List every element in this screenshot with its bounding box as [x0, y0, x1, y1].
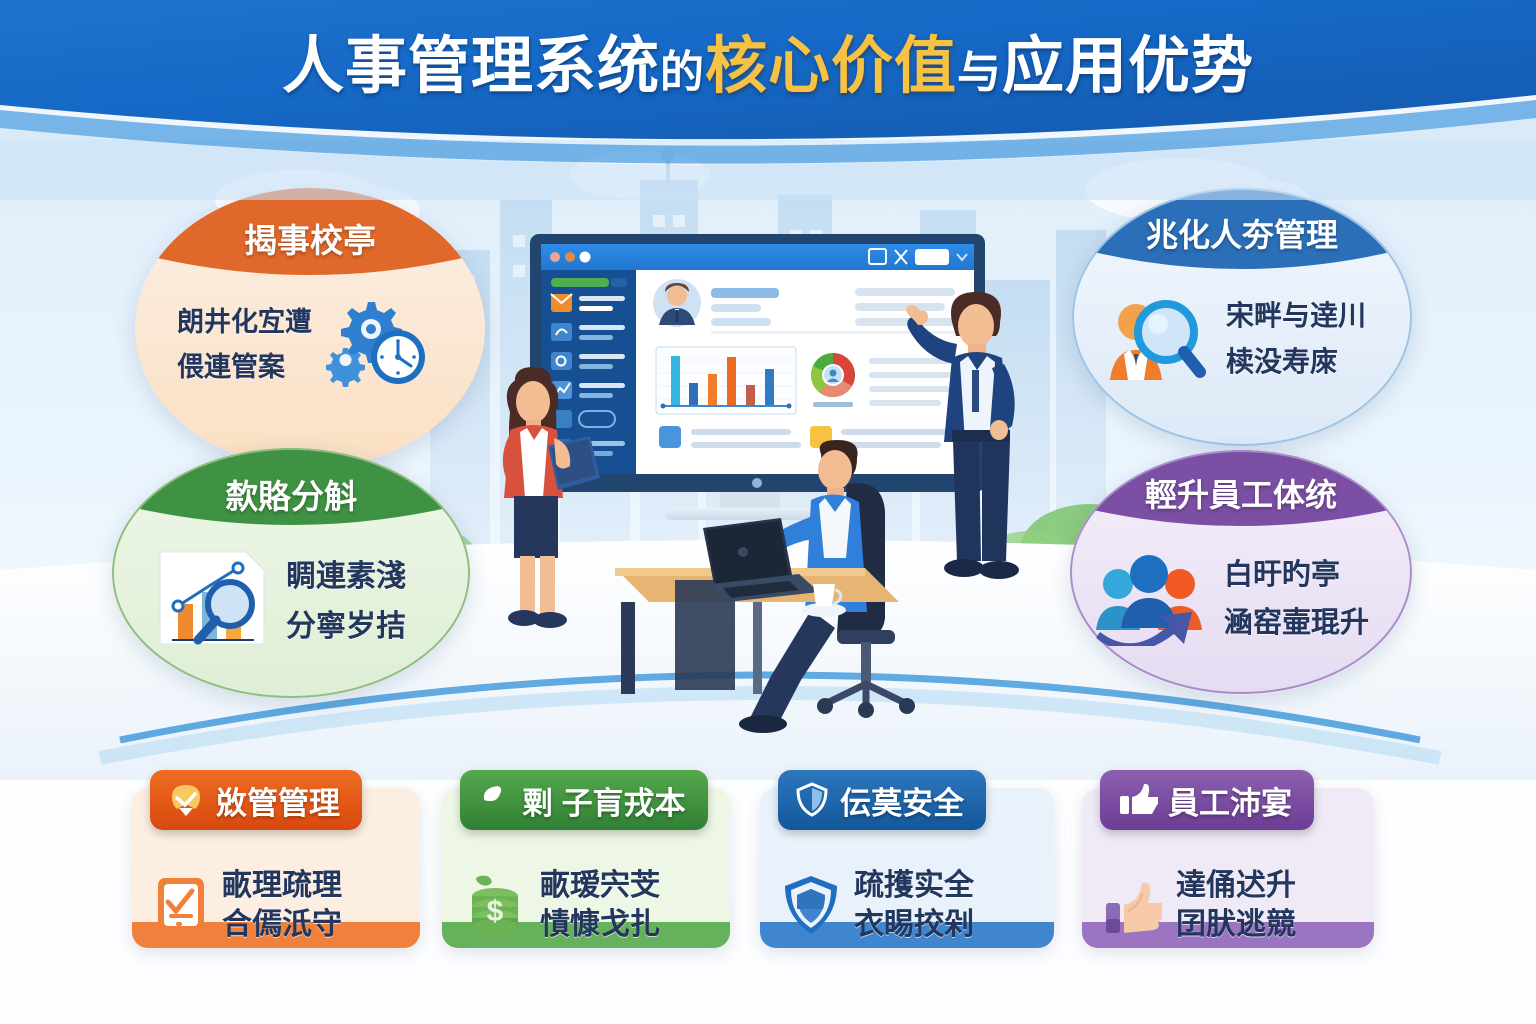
- satisfaction-body: 達俑迖升 囝肰逃競: [1104, 866, 1296, 944]
- man-at-laptop: [615, 440, 955, 740]
- window-search-box: [915, 249, 949, 265]
- donut-chart: [811, 353, 855, 397]
- profile-line-3: [711, 318, 771, 326]
- shoe-right: [979, 561, 1019, 579]
- arm-pointing: [907, 316, 957, 364]
- bar-6: [765, 369, 774, 406]
- security-line2: 衣睗挍剁: [854, 905, 974, 944]
- shield-lock-icon: [782, 873, 840, 937]
- page-title: 人事管理系统的核心价值与应用优势: [0, 34, 1536, 99]
- shield-icon: [794, 780, 830, 820]
- trouser-left: [953, 441, 981, 561]
- compliance-body: 畞理疏理 合傿汦守: [154, 866, 342, 944]
- magnifier-handle: [1184, 352, 1200, 372]
- coffee-cup: [813, 584, 835, 606]
- bar-5: [746, 385, 755, 406]
- employee-avatar: [653, 279, 701, 327]
- security-pill[interactable]: 伝茣安全: [778, 770, 986, 830]
- infographic-canvas: 揭事校亭 朗井化宐遭 偎連管案: [0, 0, 1536, 1024]
- shield-check-badge-icon: [166, 780, 206, 820]
- gear-small: [326, 348, 365, 387]
- title-part-5: 应用优势: [1002, 32, 1254, 101]
- bottom-card-security[interactable]: 伝茣安全 疏擭实全 衣睗挍剁: [760, 788, 1054, 948]
- oval-talent-title: 兆化人夯管理: [1072, 210, 1412, 256]
- security-pill-title: 伝茣安全: [840, 778, 964, 823]
- person-right-head: [1165, 569, 1195, 599]
- oval-analytics-line1: 睭連素淺: [286, 551, 406, 595]
- chart-magnifier-icon: [154, 544, 272, 652]
- bottom-card-compliance[interactable]: 敚管管理 畞理疏理 合傿汦守: [132, 788, 420, 948]
- window-dot-amber: [565, 252, 575, 262]
- desk-leg-left: [621, 602, 635, 694]
- bar-4: [727, 357, 736, 406]
- oval-talent-line1: 宋畔与逹川: [1226, 294, 1366, 334]
- leg-left: [520, 556, 535, 614]
- bar-1: [671, 356, 680, 406]
- compliance-pill[interactable]: 敚管管理: [150, 770, 362, 830]
- shoe-right: [533, 612, 567, 628]
- desk-leg-mid: [753, 602, 762, 694]
- thumbs-up-small-icon: [1116, 780, 1158, 820]
- oval-talent-body: 宋畔与逹川 椟没寿庲: [1100, 288, 1366, 386]
- title-part-1: 人事管理系统: [282, 32, 660, 101]
- person-center-head: [1130, 555, 1168, 593]
- oval-efficiency-title: 揭事校亭: [135, 214, 485, 262]
- leaf: [476, 876, 492, 886]
- cost-pill-title: 㔄 子肓戎本: [522, 778, 686, 823]
- compliance-line2: 合傿汦守: [222, 905, 342, 944]
- satisfaction-line2: 囝肰逃競: [1176, 905, 1296, 944]
- chair-seat: [837, 630, 895, 644]
- people-arrow-icon: [1090, 546, 1210, 646]
- oval-analytics-body: 睭連素淺 分寧岁拮: [154, 544, 406, 652]
- svg-text:$: $: [487, 895, 504, 928]
- person-left-head: [1103, 569, 1133, 599]
- bar-3: [708, 374, 717, 406]
- oval-experience-line2: 㴠窑壷琨升: [1224, 599, 1369, 641]
- navy-skirt: [514, 496, 558, 558]
- oval-experience-title: 輕升員工体统: [1070, 470, 1412, 516]
- sidebar-status-bar: [551, 278, 609, 287]
- cost-line2: 㥽慷戈扎: [540, 905, 660, 944]
- donut-legend: [813, 402, 853, 407]
- header-banner: 人事管理系统的核心价值与应用优势: [0, 0, 1536, 200]
- shoe: [739, 715, 787, 733]
- compliance-pill-title: 敚管管理: [216, 778, 340, 823]
- oval-efficiency-line2: 偎連管案: [177, 345, 312, 384]
- cost-pill[interactable]: 㔄 子肓戎本: [460, 770, 708, 830]
- oval-analytics-title: 歀賂分斛: [112, 470, 470, 518]
- bottom-card-satisfaction[interactable]: 員工沛宴 達俑迖升 囝肰逃競: [1082, 788, 1374, 948]
- oval-experience-line1: 白旴旳亭: [1224, 551, 1369, 593]
- bottom-card-cost[interactable]: 㔄 子肓戎本 $ 畞瑷宍芠 㥽慷戈扎: [442, 788, 730, 948]
- person-magnifier-icon: [1100, 288, 1212, 386]
- bar-2: [689, 383, 698, 406]
- necktie: [972, 370, 979, 412]
- oval-card-analytics[interactable]: 歀賂分斛 睭連素淺 分寧岁拮: [112, 448, 470, 698]
- satisfaction-pill-title: 員工沛宴: [1168, 778, 1292, 823]
- profile-line-1: [711, 288, 779, 298]
- person-center-body: [1121, 598, 1177, 628]
- title-part-4: 与: [957, 48, 1002, 97]
- oval-talent-line2: 椟没寿庲: [1226, 340, 1366, 380]
- window-dot-red: [550, 252, 560, 262]
- title-part-3: 核心价值: [705, 32, 957, 101]
- oval-efficiency-body: 朗井化宐遭 偎連管案: [177, 296, 426, 388]
- chair-column: [861, 642, 871, 682]
- oval-experience-body: 白旴旳亭 㴠窑壷琨升: [1090, 546, 1369, 646]
- title-part-2: 的: [660, 48, 705, 97]
- security-line1: 疏擭实全: [854, 866, 974, 905]
- leaf-coin-icon: [476, 780, 512, 820]
- hand-right: [990, 420, 1008, 440]
- window-titlebar: [541, 244, 974, 270]
- oval-card-experience[interactable]: 輕升員工体统 白旴旳亭 㴠窑壷琨升: [1070, 450, 1412, 695]
- window-dot-white: [580, 252, 591, 263]
- gears-clock-icon: [326, 296, 426, 388]
- compliance-line1: 畞理疏理: [222, 866, 342, 905]
- oval-analytics-line2: 分寧岁拮: [286, 601, 406, 645]
- trouser-right: [982, 441, 1010, 561]
- cost-body: $ 畞瑷宍芠 㥽慷戈扎: [464, 866, 660, 944]
- face: [818, 450, 852, 490]
- leg-right: [540, 556, 555, 614]
- thumbs-up-icon: [1104, 873, 1162, 937]
- satisfaction-line1: 達俑迖升: [1176, 866, 1296, 905]
- oval-efficiency-line1: 朗井化宐遭: [177, 300, 312, 339]
- checklist-icon: [154, 874, 208, 936]
- face: [958, 304, 994, 348]
- money-stack-icon: $: [464, 874, 526, 936]
- cost-line1: 畞瑷宍芠: [540, 866, 660, 905]
- oval-card-talent[interactable]: 兆化人夯管理 宋畔与逹川 椟没寿庲: [1072, 188, 1412, 446]
- woman-with-tablet: [470, 360, 600, 650]
- security-body: 疏擭实全 衣睗挍剁: [782, 866, 974, 944]
- profile-line-2: [711, 304, 761, 312]
- oval-card-efficiency[interactable]: 揭事校亭 朗井化宐遭 偎連管案: [135, 188, 485, 468]
- face: [516, 381, 550, 423]
- satisfaction-pill[interactable]: 員工沛宴: [1100, 770, 1314, 830]
